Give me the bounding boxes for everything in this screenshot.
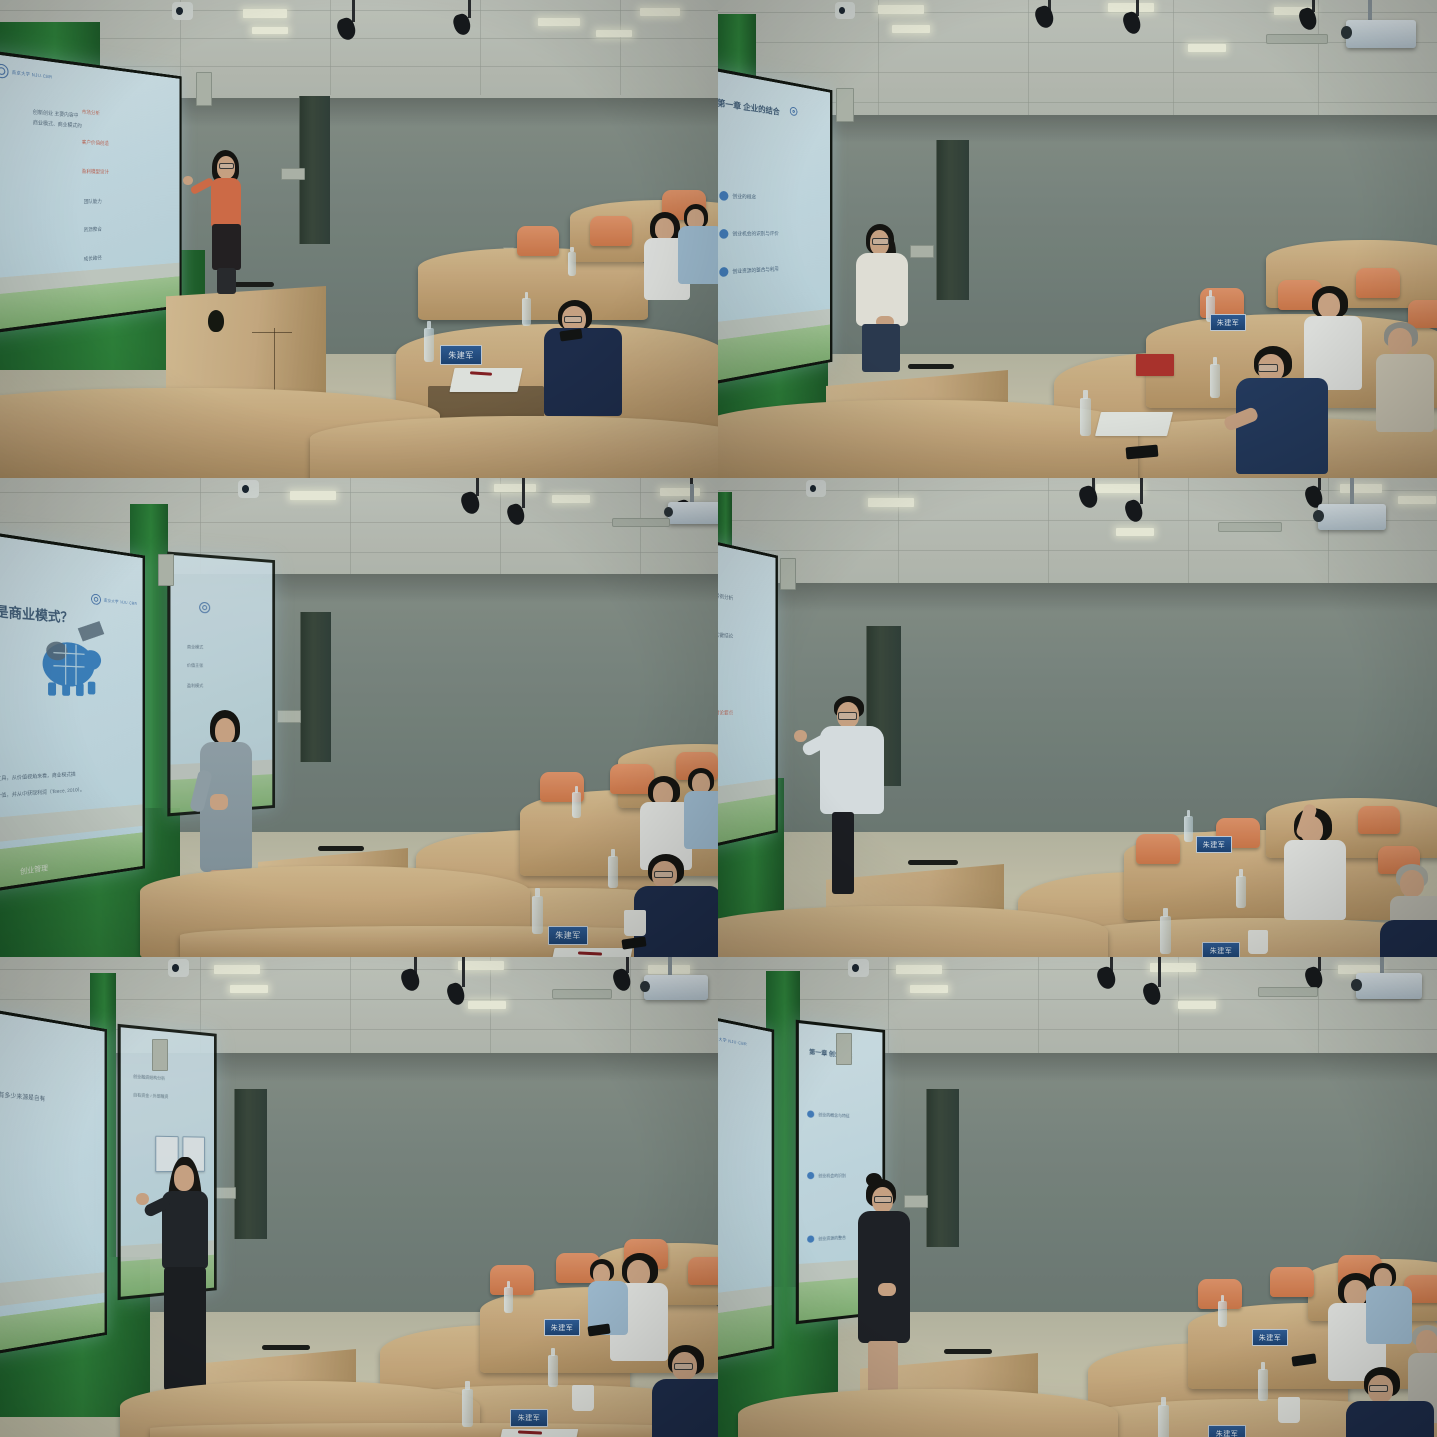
ceiling-dome-camera xyxy=(806,480,826,497)
slide-bullet: 创业资源的整合 xyxy=(807,1234,846,1243)
classroom-door[interactable] xyxy=(926,1089,959,1247)
recessed-ceiling-light xyxy=(538,18,580,26)
ceiling-projector xyxy=(668,502,718,524)
bullet-dot-icon xyxy=(719,191,728,201)
presenter-legs xyxy=(164,1267,206,1391)
presenter-dress xyxy=(858,1211,910,1343)
water-bottle xyxy=(532,896,543,934)
slide-line: 成长路径 xyxy=(84,254,102,262)
audience-head xyxy=(655,218,674,240)
ceiling-vent xyxy=(612,518,670,527)
university-seal-icon xyxy=(0,63,9,79)
slide-line: 团队能力 xyxy=(84,198,102,205)
glasses-icon xyxy=(1258,364,1278,372)
slide-bullet: 创业机会的识别与评价 xyxy=(719,229,778,239)
water-bottle xyxy=(462,1389,473,1427)
slide-line: 关键结论 xyxy=(718,631,733,640)
slide-line: 创业融资结构分析 xyxy=(133,1074,165,1082)
recessed-ceiling-light xyxy=(1178,1001,1216,1009)
water-bottle xyxy=(548,1355,558,1387)
collage-panel-4: 案例分析 关键结论 讨论要点 xyxy=(718,478,1437,957)
slide-bullet-text: 创业的概念 xyxy=(732,193,756,201)
audience-member xyxy=(540,300,660,440)
audience-member xyxy=(588,1259,642,1359)
presenter xyxy=(848,224,918,404)
water-bottle xyxy=(1258,1369,1268,1401)
recessed-ceiling-light xyxy=(596,30,632,37)
wall-air-vent xyxy=(281,168,305,180)
slide-line: 盈利模型设计 xyxy=(82,168,109,176)
recessed-ceiling-light xyxy=(494,484,536,492)
bullet-dot-icon xyxy=(719,267,728,277)
presenter-hand xyxy=(210,794,228,810)
name-plate: 朱建军 xyxy=(1196,836,1232,853)
lectern-microphone xyxy=(262,1345,310,1350)
presenter xyxy=(846,1179,924,1409)
recessed-ceiling-light xyxy=(640,8,680,16)
glasses-icon xyxy=(874,1196,892,1203)
projection-screen: 南京大学 NJU·CBR 创新创业 主要内容中 商业模式、商业模式的 市场分析 … xyxy=(0,49,182,336)
audience-head xyxy=(1416,1330,1437,1355)
audience-chair[interactable] xyxy=(1136,834,1180,864)
glasses-icon xyxy=(219,163,234,169)
recessed-ceiling-light xyxy=(230,985,268,993)
lectern-hole xyxy=(208,310,224,332)
audience-torso xyxy=(1376,354,1434,432)
ceiling-dome-camera xyxy=(168,959,189,977)
slide-line: 商业模式、商业模式的 xyxy=(33,119,82,130)
tiered-desk-front xyxy=(718,906,1108,957)
glasses-icon xyxy=(838,712,857,720)
recessed-ceiling-light xyxy=(878,5,924,14)
speaker-mount xyxy=(352,0,355,22)
collage-panel-3: 什么是商业模式？ 南京大学 NJU·CBR xyxy=(0,478,718,957)
name-plate: 朱建军 xyxy=(548,926,588,945)
slide-grey-band xyxy=(0,1272,105,1308)
slide-bullet-text: 创业机会的识别 xyxy=(818,1172,846,1178)
slide-bullet: 创业的概念 xyxy=(719,191,756,202)
audience-head xyxy=(1400,870,1424,897)
water-bottle xyxy=(424,328,434,362)
bullet-dot-icon xyxy=(719,229,728,239)
recessed-ceiling-light xyxy=(868,498,914,507)
slide-line: 资源整合 xyxy=(84,226,102,234)
audience-torso xyxy=(1346,1401,1434,1437)
slide-line: 自有资金 / 外部融资 xyxy=(133,1092,168,1100)
audience-torso xyxy=(1284,840,1346,920)
audience-torso xyxy=(544,328,622,416)
presenter-head xyxy=(174,1165,194,1191)
ceiling-dome-camera xyxy=(835,2,855,19)
presenter xyxy=(146,1157,226,1397)
presenter-hands xyxy=(878,1283,896,1296)
projection-screen: 案例分析 关键结论 讨论要点 xyxy=(718,535,778,853)
water-bottle xyxy=(1080,398,1091,436)
audience-head xyxy=(1318,293,1340,318)
name-plate: 朱建军 xyxy=(1252,1329,1288,1346)
ceiling-dome-camera xyxy=(848,959,869,977)
projection-screen-left: 南京大学 NJU·CBR xyxy=(718,1011,774,1366)
recessed-ceiling-light xyxy=(243,9,287,18)
red-booklet xyxy=(1136,354,1174,376)
audience-chair[interactable] xyxy=(1270,1267,1314,1297)
recessed-ceiling-light xyxy=(252,27,288,34)
slide-bullet: 创业的概念与特征 xyxy=(807,1110,850,1119)
slide-logo-text: 南京大学 NJU·CBR xyxy=(104,597,138,606)
slide-bullet-text: 创业资源的整合与利用 xyxy=(732,265,778,275)
audience-torso xyxy=(1380,920,1437,957)
speaker-mount xyxy=(476,478,479,496)
projector-control-panel[interactable] xyxy=(780,558,796,590)
ceiling-projector xyxy=(1318,504,1386,530)
projection-screen: 资金来源中有多少来源是自有 ····· xyxy=(0,1007,107,1356)
audience-torso xyxy=(684,791,718,849)
slide-line: 案例分析 xyxy=(718,592,733,602)
audience-torso xyxy=(1236,378,1328,474)
ceiling-projector xyxy=(644,975,708,1000)
white-mug xyxy=(1278,1397,1300,1423)
presenter-skirt xyxy=(212,224,241,270)
audience-member xyxy=(648,1345,718,1437)
ceiling-vent xyxy=(1258,987,1318,997)
audience-member xyxy=(1280,808,1370,948)
presenter-head xyxy=(215,718,235,744)
water-bottle xyxy=(608,856,618,888)
university-seal-icon xyxy=(91,593,101,605)
ceiling-dome-camera xyxy=(172,2,193,20)
presenter-legs xyxy=(217,268,236,294)
bullet-dot-icon xyxy=(807,1172,814,1179)
slide-logo: 南京大学 NJU·CBR xyxy=(91,593,137,608)
projection-screen: 什么是商业模式？ 南京大学 NJU·CBR xyxy=(0,530,145,893)
projector-control-panel[interactable] xyxy=(836,1033,852,1065)
recessed-ceiling-light xyxy=(1340,484,1382,493)
audience-torso xyxy=(678,226,718,284)
audience-torso xyxy=(1366,1286,1412,1344)
lectern-door-seam xyxy=(274,328,275,398)
slide-logo xyxy=(199,602,210,614)
projector-control-panel[interactable] xyxy=(158,554,174,586)
projector-control-panel[interactable] xyxy=(152,1039,168,1071)
recessed-ceiling-light xyxy=(1150,963,1196,972)
name-plate: 朱建军 xyxy=(440,345,482,365)
slide-line: 述企业如何创造价值，并从中获取利润（Teece, 2010）。 xyxy=(0,786,85,802)
projector-control-panel[interactable] xyxy=(836,88,854,122)
slide-logo xyxy=(790,106,798,116)
audience-torso xyxy=(634,886,718,957)
presenter-hand xyxy=(183,176,193,185)
white-mug xyxy=(572,1385,594,1411)
slide-line: 讨论要点 xyxy=(718,709,733,717)
slide-line: 商业模式 xyxy=(187,644,203,650)
water-bottle xyxy=(1236,876,1246,908)
puzzle-piggybank-graphic xyxy=(26,609,112,705)
water-bottle xyxy=(522,298,531,326)
audience-chair[interactable] xyxy=(688,1257,718,1285)
bullet-dot-icon xyxy=(807,1235,814,1243)
slide-line: 商业模式是一种工具，从价值视角来看，商业模式描 xyxy=(0,771,76,785)
name-plate: 朱建军 xyxy=(544,1319,580,1336)
recessed-ceiling-light xyxy=(1188,44,1226,52)
slide-bullet: 创业机会的识别 xyxy=(807,1172,846,1179)
water-bottle xyxy=(1218,1301,1227,1327)
glasses-icon xyxy=(1369,1385,1388,1392)
university-seal-icon xyxy=(199,602,210,614)
slide-bullet: 创业资源的整合与利用 xyxy=(719,264,778,277)
lecture-hall-scene: 案例分析 关键结论 讨论要点 xyxy=(718,478,1437,957)
audience-member xyxy=(1342,1367,1437,1437)
audience-member xyxy=(1380,908,1437,957)
water-bottle xyxy=(1158,1405,1169,1437)
presenter-hair-bun xyxy=(866,1173,882,1187)
slide-line: 市场分析 xyxy=(82,108,100,117)
tiered-desk-front xyxy=(738,1389,1118,1437)
lecture-hall-scene: 南京大学 NJU·CBR 第一章 创业概述 创业的概念与特征 创业机会的识别 创… xyxy=(718,957,1437,1437)
ceiling-vent xyxy=(552,989,612,999)
water-bottle xyxy=(1210,364,1220,398)
classroom-door[interactable] xyxy=(300,612,331,762)
lecture-hall-scene: 第一章 企业的结合 创业的概念 创业机会的识别与评价 创业资源的整合与利用 xyxy=(718,0,1437,478)
glasses-icon xyxy=(654,871,673,878)
recessed-ceiling-light xyxy=(896,965,942,974)
speaker-mount xyxy=(468,0,471,18)
slide-bullet-text: 创业的概念与特征 xyxy=(818,1111,849,1118)
lecture-hall-scene: 南京大学 NJU·CBR 创新创业 主要内容中 商业模式、商业模式的 市场分析 … xyxy=(0,0,718,478)
recessed-ceiling-light xyxy=(1096,484,1142,493)
audience-head xyxy=(1388,328,1412,355)
water-bottle xyxy=(504,1287,513,1313)
projector-control-panel[interactable] xyxy=(196,72,212,106)
lectern-microphone xyxy=(944,1349,992,1354)
white-mug xyxy=(624,910,646,936)
recessed-ceiling-light xyxy=(1398,496,1436,504)
lectern-microphone xyxy=(318,846,364,851)
slide-bullet-text: 创业机会的识别与评价 xyxy=(732,230,778,238)
paper-sheet xyxy=(1095,412,1173,436)
presenter-legs xyxy=(832,812,854,894)
slide-bullet-text: 创业资源的整合 xyxy=(818,1234,846,1241)
tiered-desk-front xyxy=(718,400,1138,478)
audience-member xyxy=(1228,346,1368,478)
recessed-ceiling-light xyxy=(214,965,260,974)
water-bottle xyxy=(1160,916,1171,954)
classroom-door[interactable] xyxy=(936,140,969,300)
tiered-desk-front xyxy=(150,1423,710,1437)
name-plate: 朱建军 xyxy=(1202,942,1240,957)
bullet-dot-icon xyxy=(807,1110,814,1117)
ceiling-vent xyxy=(1266,34,1328,44)
slide-title: 第一章 企业的结合 xyxy=(718,97,780,118)
recessed-ceiling-light xyxy=(290,491,336,500)
photo-collage: 南京大学 NJU·CBR 创新创业 主要内容中 商业模式、商业模式的 市场分析 … xyxy=(0,0,1437,1437)
slide-line: 盈利模式 xyxy=(187,683,203,689)
water-bottle xyxy=(1184,816,1193,842)
slide-line: 创新创业 主要内容中 xyxy=(33,108,79,119)
audience-member xyxy=(678,204,718,304)
ceiling-dome-camera xyxy=(238,480,259,498)
audience-member xyxy=(684,768,718,868)
audience-chair[interactable] xyxy=(517,226,559,256)
name-plate: 朱建军 xyxy=(1210,314,1246,331)
recessed-ceiling-light xyxy=(552,495,590,503)
slide-logo-text: 南京大学 NJU·CBR xyxy=(12,69,53,80)
recessed-ceiling-light xyxy=(910,985,948,993)
speaker-mount xyxy=(1158,957,1161,987)
presenter xyxy=(810,696,920,896)
presenter-jeans xyxy=(862,324,900,372)
white-mug xyxy=(1248,930,1268,954)
speaker-mount xyxy=(522,478,525,508)
audience-torso xyxy=(652,1379,718,1437)
water-bottle xyxy=(568,252,576,276)
slide-line: 资金来源中有多少来源是自有 xyxy=(0,1086,45,1102)
recessed-ceiling-light xyxy=(892,25,930,33)
recessed-ceiling-light xyxy=(468,1001,506,1009)
glasses-icon xyxy=(564,316,582,323)
collage-panel-6: 南京大学 NJU·CBR 第一章 创业概述 创业的概念与特征 创业机会的识别 创… xyxy=(718,957,1437,1437)
presenter-hand xyxy=(794,730,807,742)
collage-panel-5: 资金来源中有多少来源是自有 ····· 创业融资结构分析 自有资金 / 外部融资 xyxy=(0,957,718,1437)
audience-chair[interactable] xyxy=(590,216,632,246)
recessed-ceiling-light xyxy=(1116,528,1154,536)
glasses-icon xyxy=(674,1363,693,1370)
lecture-hall-scene: 什么是商业模式？ 南京大学 NJU·CBR xyxy=(0,478,718,957)
presenter xyxy=(196,150,256,296)
collage-panel-1: 南京大学 NJU·CBR 创新创业 主要内容中 商业模式、商业模式的 市场分析 … xyxy=(0,0,718,478)
classroom-door[interactable] xyxy=(234,1089,267,1239)
water-bottle xyxy=(572,792,581,818)
collage-panel-2: 第一章 企业的结合 创业的概念 创业机会的识别与评价 创业资源的整合与利用 xyxy=(718,0,1437,478)
slide-logo-text: 南京大学 NJU·CBR xyxy=(718,1034,747,1047)
wall-air-vent xyxy=(277,710,301,723)
ceiling-projector xyxy=(1346,20,1416,48)
name-plate: 朱建军 xyxy=(1208,1425,1246,1437)
presenter-hand xyxy=(136,1193,149,1205)
ceiling-vent xyxy=(1218,522,1282,532)
slide-line: 客户价值创造 xyxy=(82,139,109,147)
speaker-mount xyxy=(1140,478,1143,504)
speaker-mount xyxy=(462,957,465,987)
lectern-door-seam xyxy=(252,332,292,333)
audience-member xyxy=(1376,322,1437,442)
presenter-torso xyxy=(211,178,241,228)
wall-shadow xyxy=(718,583,1437,612)
projection-screen: 第一章 企业的结合 创业的概念 创业机会的识别与评价 创业资源的整合与利用 xyxy=(718,63,832,388)
slide-line: 价值主张 xyxy=(187,663,203,669)
slide-logo: 南京大学 NJU·CBR xyxy=(0,63,52,84)
ceiling-projector xyxy=(1356,973,1422,999)
glasses-icon xyxy=(872,238,889,245)
lecture-hall-scene: 资金来源中有多少来源是自有 ····· 创业融资结构分析 自有资金 / 外部融资 xyxy=(0,957,718,1437)
name-plate: 朱建军 xyxy=(510,1409,548,1427)
recessed-ceiling-light xyxy=(660,488,700,496)
slide-logo: 南京大学 NJU·CBR xyxy=(718,1029,747,1049)
university-seal-icon xyxy=(790,106,798,116)
